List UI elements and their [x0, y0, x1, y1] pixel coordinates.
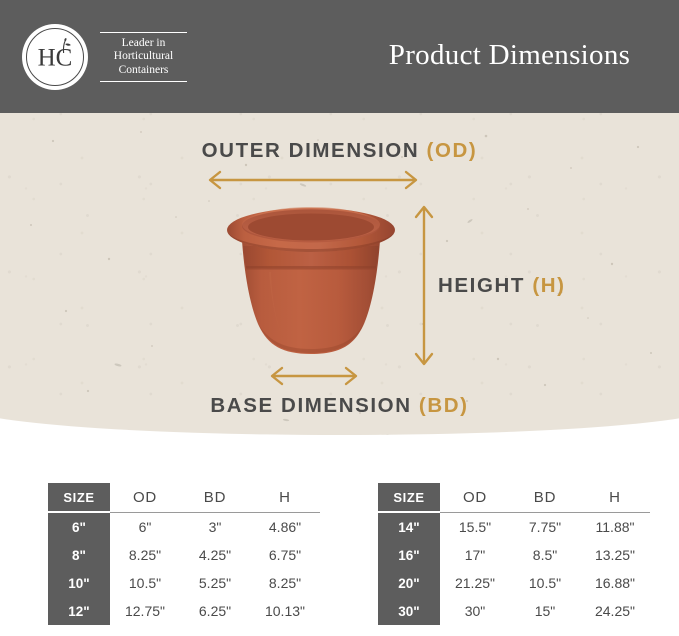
outer-dimension-abbr: (OD) [427, 139, 478, 162]
column-header-h: H [580, 483, 650, 512]
cell-size: 12" [48, 597, 110, 625]
column-header-size: SIZE [48, 483, 110, 512]
size-chart-table: SIZE OD BD H 6" 6" 3" 4.86" 8" 8.25" 4.2… [48, 483, 320, 625]
table-row: 14" 15.5" 7.75" 11.88" [378, 512, 650, 541]
hc-circle-logo-icon: HC [22, 24, 88, 90]
table-row: 30" 30" 15" 24.25" [378, 597, 650, 625]
diagram-panel: OUTER DIMENSION (OD) [0, 113, 679, 435]
cell-bd: 6.25" [180, 597, 250, 625]
column-header-od: OD [440, 483, 510, 512]
cell-h: 8.25" [250, 569, 320, 597]
cell-bd: 8.5" [510, 541, 580, 569]
table-row: 6" 6" 3" 4.86" [48, 512, 320, 541]
height-arrow-icon [414, 203, 434, 368]
cell-bd: 7.75" [510, 512, 580, 541]
cell-od: 12.75" [110, 597, 180, 625]
cell-h: 11.88" [580, 512, 650, 541]
cell-h: 4.86" [250, 512, 320, 541]
base-dimension-abbr: (BD) [419, 394, 469, 417]
cell-bd: 5.25" [180, 569, 250, 597]
brand-logo-block: HC Leader in Horticultural Containers [22, 22, 187, 92]
table-header-row: SIZE OD BD H [48, 483, 320, 512]
table-row: 10" 10.5" 5.25" 8.25" [48, 569, 320, 597]
cell-h: 13.25" [580, 541, 650, 569]
cell-od: 6" [110, 512, 180, 541]
header-bar: HC Leader in Horticultural Containers Pr… [0, 0, 679, 113]
table-row: 12" 12.75" 6.25" 10.13" [48, 597, 320, 625]
cell-h: 6.75" [250, 541, 320, 569]
cell-size: 16" [378, 541, 440, 569]
outer-dimension-label: OUTER DIMENSION (OD) [0, 139, 679, 163]
column-header-size: SIZE [378, 483, 440, 512]
cell-od: 10.5" [110, 569, 180, 597]
table-row: 16" 17" 8.5" 13.25" [378, 541, 650, 569]
base-dimension-arrow-icon [268, 366, 360, 386]
leaf-sprout-icon [55, 38, 73, 54]
column-header-bd: BD [510, 483, 580, 512]
cell-h: 24.25" [580, 597, 650, 625]
height-text: HEIGHT [438, 274, 525, 297]
cell-bd: 3" [180, 512, 250, 541]
column-header-od: OD [110, 483, 180, 512]
cell-h: 10.13" [250, 597, 320, 625]
table-header-row: SIZE OD BD H [378, 483, 650, 512]
cell-size: 8" [48, 541, 110, 569]
height-label: HEIGHT (H) [438, 274, 566, 298]
base-dimension-label: BASE DIMENSION (BD) [0, 394, 679, 418]
table-row: 8" 8.25" 4.25" 6.75" [48, 541, 320, 569]
table-row: 20" 21.25" 10.5" 16.88" [378, 569, 650, 597]
size-chart-table: SIZE OD BD H 14" 15.5" 7.75" 11.88" 16" … [378, 483, 650, 625]
terracotta-planter-pot-illustration [225, 200, 397, 370]
height-abbr: (H) [532, 274, 565, 297]
logo-tagline: Leader in Horticultural Containers [100, 32, 187, 83]
cell-od: 30" [440, 597, 510, 625]
spec-table-small-sizes: SIZE OD BD H 6" 6" 3" 4.86" 8" 8.25" 4.2… [48, 483, 320, 623]
column-header-h: H [250, 483, 320, 512]
outer-dimension-arrow-icon [206, 170, 420, 190]
cell-h: 16.88" [580, 569, 650, 597]
cell-size: 14" [378, 512, 440, 541]
cell-size: 10" [48, 569, 110, 597]
cell-bd: 15" [510, 597, 580, 625]
cell-size: 20" [378, 569, 440, 597]
cell-od: 17" [440, 541, 510, 569]
column-header-bd: BD [180, 483, 250, 512]
cell-od: 21.25" [440, 569, 510, 597]
cell-size: 30" [378, 597, 440, 625]
outer-dimension-text: OUTER DIMENSION [202, 139, 420, 162]
cell-bd: 10.5" [510, 569, 580, 597]
page-title: Product Dimensions [340, 0, 679, 113]
cell-od: 8.25" [110, 541, 180, 569]
cell-size: 6" [48, 512, 110, 541]
cell-od: 15.5" [440, 512, 510, 541]
base-dimension-text: BASE DIMENSION [210, 394, 411, 417]
logo-monogram: HC [22, 46, 88, 71]
cell-bd: 4.25" [180, 541, 250, 569]
spec-table-large-sizes: SIZE OD BD H 14" 15.5" 7.75" 11.88" 16" … [378, 483, 650, 623]
